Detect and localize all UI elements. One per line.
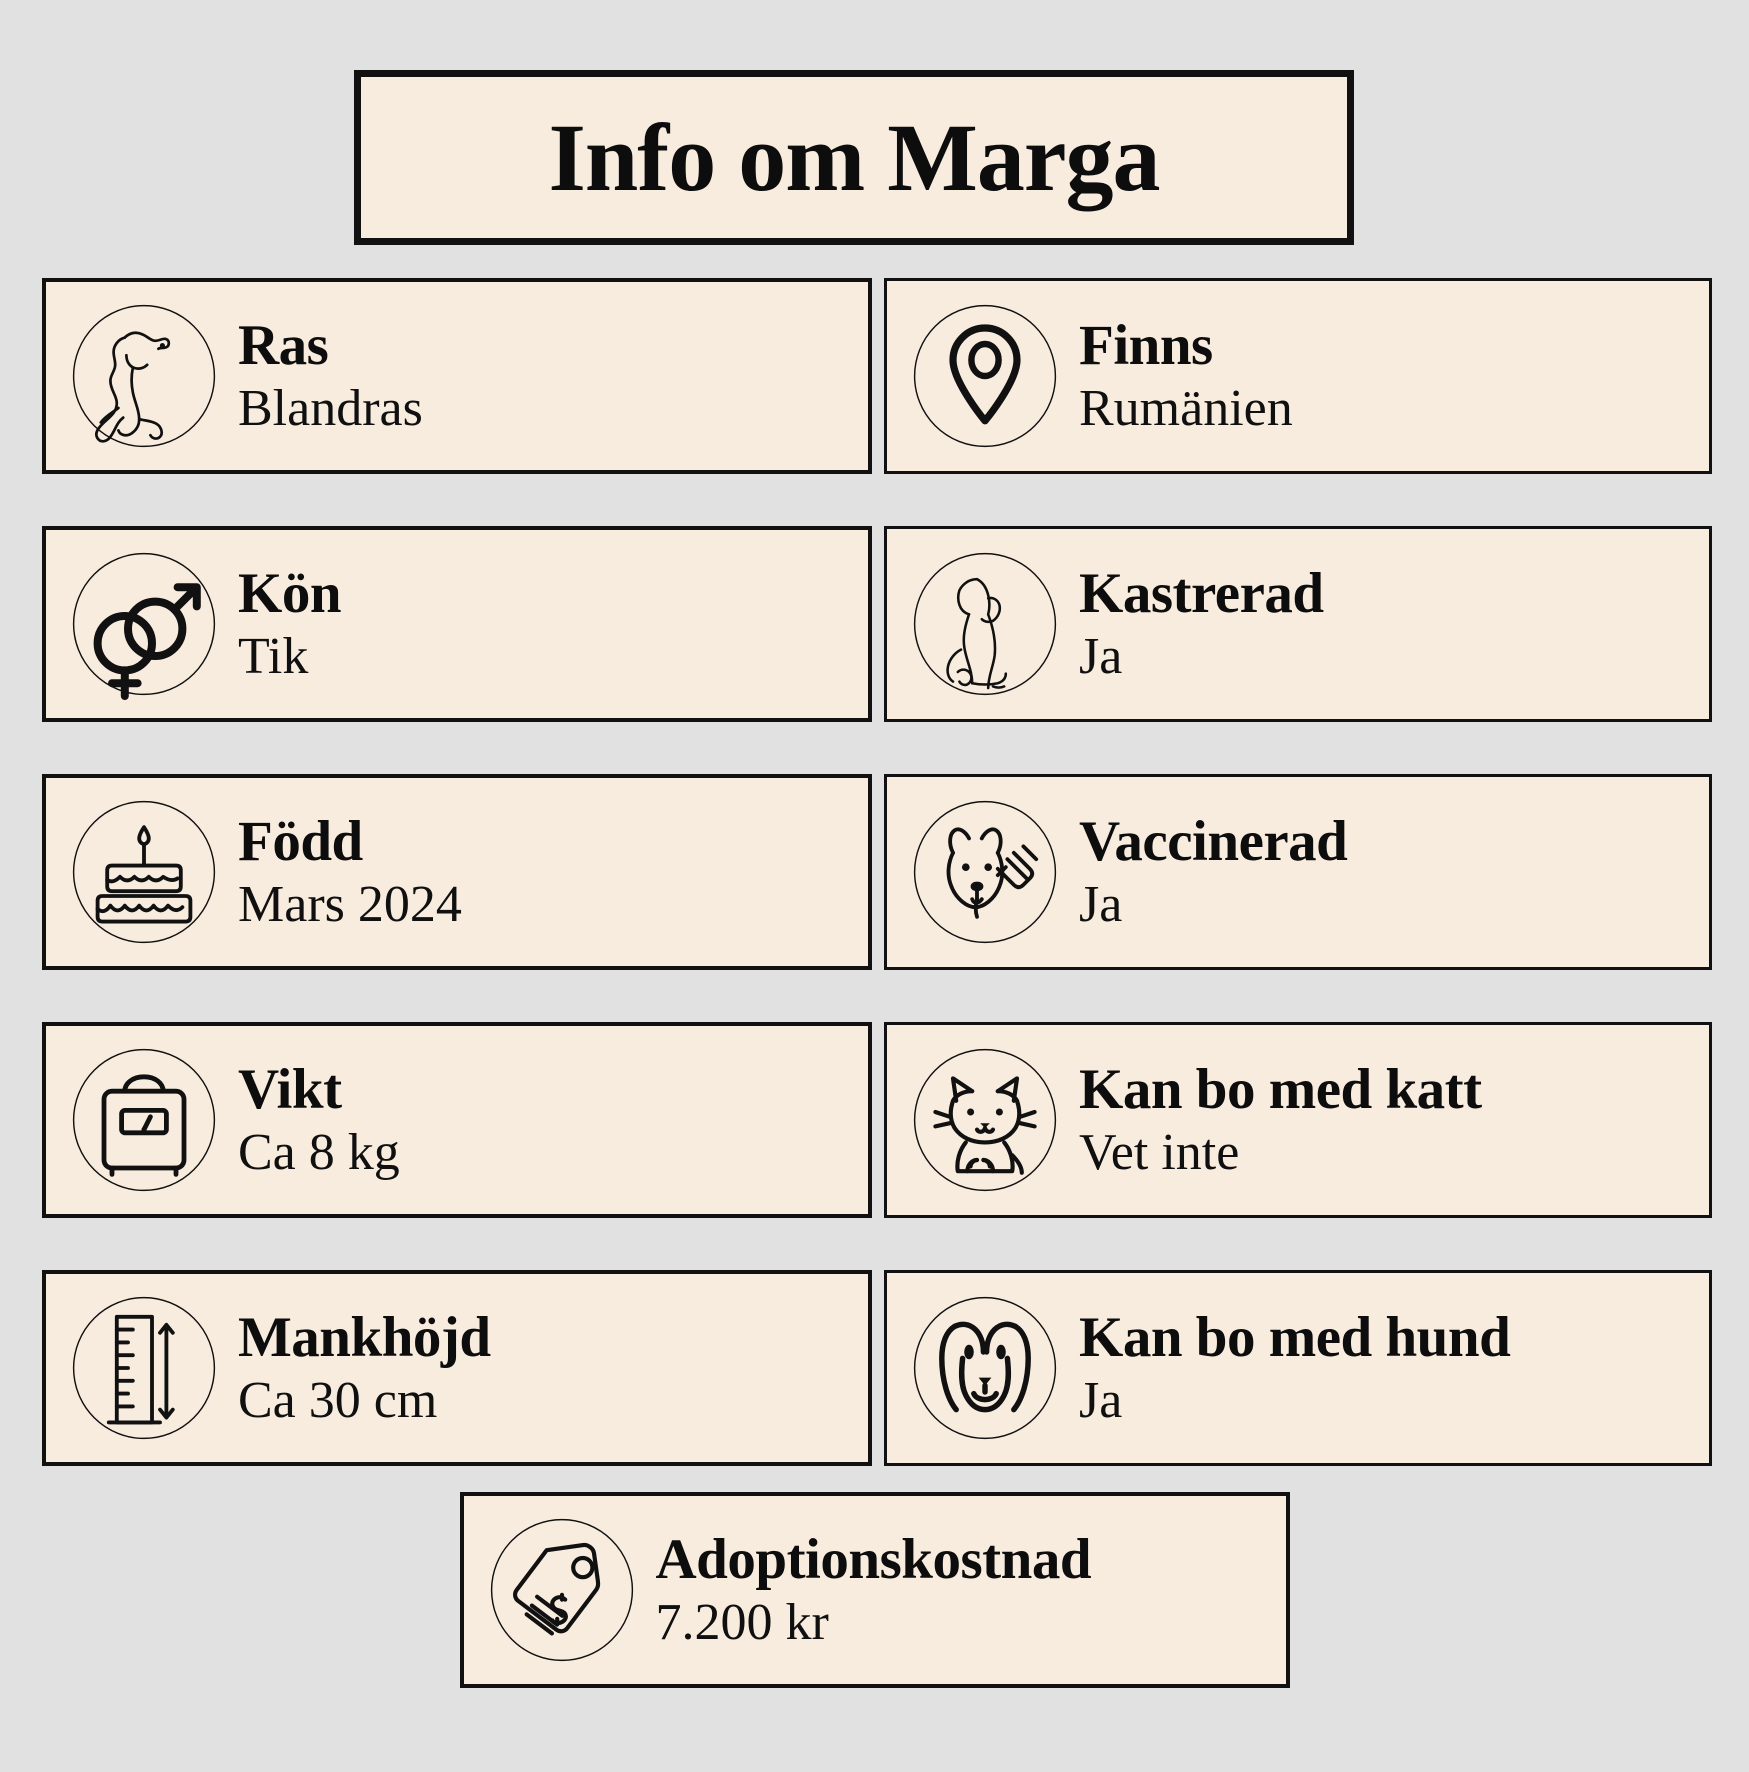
price-tag-icon <box>482 1510 642 1670</box>
info-card-kastrerad[interactable]: Kastrerad Ja <box>884 526 1712 722</box>
cat-icon <box>905 1040 1065 1200</box>
dog-face-icon <box>905 1288 1065 1448</box>
card-text: Mankhöjd Ca 30 cm <box>238 1308 491 1428</box>
card-label: Finns <box>1079 316 1293 376</box>
info-card-fodd[interactable]: Född Mars 2024 <box>42 774 872 970</box>
card-label: Kön <box>238 564 341 624</box>
card-text: Finns Rumänien <box>1079 316 1293 436</box>
card-text: Kan bo med hund Ja <box>1079 1308 1510 1428</box>
location-pin-icon <box>905 296 1065 456</box>
dog-line-art-icon <box>64 296 224 456</box>
ruler-height-icon <box>64 1288 224 1448</box>
info-card-mankhojd[interactable]: Mankhöjd Ca 30 cm <box>42 1270 872 1466</box>
card-text: Vikt Ca 8 kg <box>238 1060 400 1180</box>
card-row: Vikt Ca 8 kg <box>42 1022 1712 1218</box>
info-card-adoptionskostnad[interactable]: Adoptionskostnad 7.200 kr <box>460 1492 1290 1688</box>
card-value: Rumänien <box>1079 382 1293 437</box>
info-card-kan-bo-med-hund[interactable]: Kan bo med hund Ja <box>884 1270 1712 1466</box>
info-card-finns[interactable]: Finns Rumänien <box>884 278 1712 474</box>
card-text: Kastrerad Ja <box>1079 564 1324 684</box>
info-card-vaccinerad[interactable]: Vaccinerad Ja <box>884 774 1712 970</box>
info-card-kon[interactable]: Kön Tik <box>42 526 872 722</box>
bottom-card-wrap: Adoptionskostnad 7.200 kr <box>0 1492 1749 1688</box>
card-value: Ca 8 kg <box>238 1126 400 1181</box>
birthday-cake-icon <box>64 792 224 952</box>
card-value: Blandras <box>238 382 423 437</box>
page-title-box: Info om Marga <box>354 70 1354 245</box>
info-sheet: Info om Marga <box>0 0 1749 1772</box>
card-label: Ras <box>238 316 423 376</box>
gender-symbols-icon <box>64 544 224 704</box>
card-value: 7.200 kr <box>656 1596 1092 1651</box>
info-card-ras[interactable]: Ras Blandras <box>42 278 872 474</box>
info-card-grid: Ras Blandras Finns Rumänien <box>42 278 1712 1518</box>
card-row: Kön Tik <box>42 526 1712 722</box>
card-text: Kön Tik <box>238 564 341 684</box>
card-label: Vaccinerad <box>1079 812 1347 872</box>
card-text: Adoptionskostnad 7.200 kr <box>656 1530 1092 1650</box>
card-value: Mars 2024 <box>238 878 462 933</box>
card-row: Ras Blandras Finns Rumänien <box>42 278 1712 474</box>
info-card-kan-bo-med-katt[interactable]: Kan bo med katt Vet inte <box>884 1022 1712 1218</box>
card-text: Ras Blandras <box>238 316 423 436</box>
card-row: Mankhöjd Ca 30 cm <box>42 1270 1712 1466</box>
card-label: Kastrerad <box>1079 564 1324 624</box>
card-value: Vet inte <box>1079 1126 1482 1181</box>
card-label: Född <box>238 812 462 872</box>
card-value: Ja <box>1079 878 1347 933</box>
card-value: Ca 30 cm <box>238 1374 491 1429</box>
card-text: Kan bo med katt Vet inte <box>1079 1060 1482 1180</box>
card-label: Kan bo med hund <box>1079 1308 1510 1368</box>
page-title: Info om Marga <box>549 110 1160 206</box>
card-value: Ja <box>1079 1374 1510 1429</box>
card-text: Vaccinerad Ja <box>1079 812 1347 932</box>
card-label: Kan bo med katt <box>1079 1060 1482 1120</box>
card-value: Ja <box>1079 630 1324 685</box>
card-label: Vikt <box>238 1060 400 1120</box>
card-value: Tik <box>238 630 341 685</box>
card-row: Född Mars 2024 <box>42 774 1712 970</box>
card-text: Född Mars 2024 <box>238 812 462 932</box>
card-label: Adoptionskostnad <box>656 1530 1092 1590</box>
dog-syringe-vaccine-icon <box>905 792 1065 952</box>
weight-scale-icon <box>64 1040 224 1200</box>
info-card-vikt[interactable]: Vikt Ca 8 kg <box>42 1022 872 1218</box>
card-label: Mankhöjd <box>238 1308 491 1368</box>
sitting-dog-line-icon <box>905 544 1065 704</box>
